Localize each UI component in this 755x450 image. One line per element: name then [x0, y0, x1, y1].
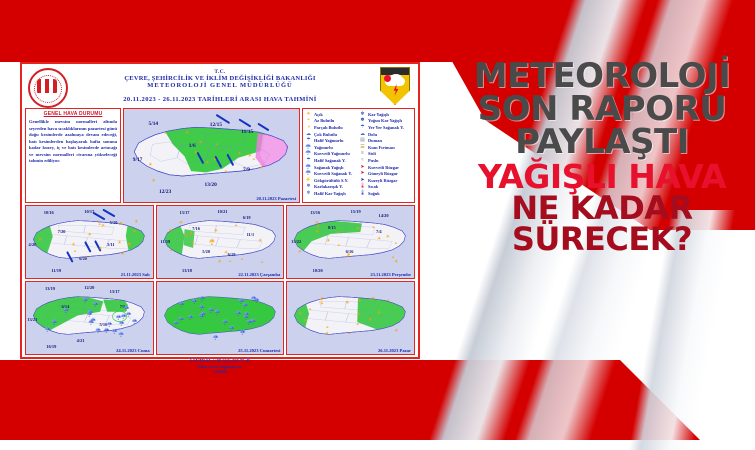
weather-symbol: ☔	[90, 319, 96, 324]
legend-label: Gökgürültülü S.Y.	[314, 178, 348, 183]
forecast-row-1: 10/16 10/17 5/10 7/20 4/20 5/11 6/20 11/…	[25, 205, 415, 279]
weather-symbol: ◓	[326, 326, 329, 331]
forecast-cell-sunday: 26.11.2023 Pazar ☀☀◓☀☀◓☀☀◓☀☀◓☀☀◓☀☀◓	[286, 281, 415, 355]
map-date-label: 20.11.2023 Pazartesi	[256, 196, 296, 201]
temp-label: 13/18	[182, 268, 192, 273]
weather-symbol: ☀	[185, 131, 189, 136]
weather-symbol: ☔	[236, 312, 242, 317]
sleet-icon: ❅	[305, 184, 312, 189]
temp-label: 13/16	[310, 210, 320, 215]
map-date-label: 22.11.2023 Çarşamba	[238, 272, 280, 277]
weather-symbol: ☔	[82, 299, 88, 304]
legend-label: Puslu	[368, 158, 379, 163]
weather-symbol: ☀	[303, 319, 307, 324]
hot-icon: 🌡	[359, 184, 366, 189]
weather-symbol: ☀	[258, 239, 262, 244]
weather-symbol: ☀	[298, 312, 302, 317]
map-date-label: 21.11.2023 Salı	[121, 272, 150, 277]
temp-label: 9/17	[133, 157, 143, 163]
temp-label: 13/22	[291, 239, 301, 244]
weather-symbol: ☀	[119, 222, 123, 227]
legend-label: Kar Yağışlı	[368, 112, 389, 117]
daily-forecast-grid: 10/16 10/17 5/10 7/20 4/20 5/11 6/20 11/…	[22, 203, 418, 355]
weather-symbol: ◓	[241, 258, 244, 263]
temp-label: 1/6	[189, 143, 196, 149]
legend-item: ➤Kuzeyli Rüzgar	[359, 177, 412, 184]
header-line-ministry: ÇEVRE, ŞEHİRCİLİK VE İKLİM DEĞİŞİKLİĞİ B…	[22, 75, 418, 82]
temp-label: 6/19	[228, 252, 236, 257]
weather-forecast-document: T.C. ÇEVRE, ŞEHİRCİLİK VE İKLİM DEĞİŞİKL…	[20, 62, 420, 359]
legend-label: Yağmurlu	[314, 145, 333, 150]
weather-symbol: ☀	[188, 232, 192, 237]
weather-symbol: ☀	[101, 224, 105, 229]
weather-symbol: ☔	[214, 311, 220, 316]
weather-symbol: ☔	[124, 307, 130, 312]
legend-item: ❄Kar Yağışlı	[359, 111, 412, 118]
weather-symbol: ☔	[120, 315, 126, 320]
weather-symbol: ◓	[74, 250, 77, 255]
weather-symbol: ☔	[179, 303, 185, 308]
weather-symbol: ☀	[316, 225, 320, 230]
weather-symbol: ☀	[259, 166, 263, 171]
temp-label: 13/20	[205, 182, 217, 188]
temp-label: 5/20	[202, 249, 210, 254]
weather-symbol: ◓	[348, 332, 351, 337]
map-date-label: 26.11.2023 Pazar	[378, 348, 411, 353]
general-weather-title: GENEL HAVA DURUMU	[29, 111, 117, 117]
weather-symbol: ☔	[119, 322, 125, 327]
weather-symbol: ☔	[95, 329, 101, 334]
headline-line-6: SÜRECEK?	[452, 224, 752, 255]
weather-symbol: ◓	[85, 256, 88, 261]
weather-symbol: ☀	[120, 252, 124, 257]
map-date-label: 23.11.2023 Perşembe	[370, 272, 411, 277]
weather-symbol: ☀	[371, 297, 375, 302]
weather-symbol: ☔	[63, 309, 69, 314]
temp-label: 13/19	[45, 286, 55, 291]
temp-label: 6/19	[243, 215, 251, 220]
legend-item: ☂Hafif Yağmurlu	[305, 137, 358, 144]
forecast-cell-thursday: 13/16 15/19 14/20 8/15 7/4 13/22 6/16 10…	[286, 205, 415, 279]
temp-label: 13/17	[110, 289, 120, 294]
legend-item: ☀Açık	[305, 111, 358, 118]
forecast-cell-saturday: 25.11.2023 Cumartesi ☔☔☔☔☔☔☔☔☔☔☔☔☔☔☔☔☔☔☔…	[156, 281, 285, 355]
partly-cloudy-icon: ◓	[305, 118, 312, 123]
temp-label: 16/19	[46, 344, 56, 349]
legend-item: ◓Az Bulutlu	[305, 118, 358, 125]
legend-label: Parçalı Bulutlu	[314, 125, 343, 130]
legend-label: Yer Yer Sağanak Y.	[368, 125, 404, 130]
legend-label: Hafif Kar Yağışlı	[314, 191, 346, 196]
weather-symbol: ☀	[368, 318, 372, 323]
legend-label: Kum Fırtınası	[368, 145, 395, 150]
weather-symbol: ☀	[148, 163, 152, 168]
weather-symbol: ☀	[386, 235, 390, 240]
legend-column-1: ☀Açık ◓Az Bulutlu ◑Parçalı Bulutlu ☁Çok …	[305, 111, 358, 200]
weather-symbol: ☔	[251, 297, 257, 302]
temp-label: 7/4	[376, 229, 382, 234]
document-body: GENEL HAVA DURUMU Genellikle mevsim norm…	[22, 108, 418, 203]
weather-symbol: ☀	[38, 238, 42, 243]
weather-symbol: ☔	[118, 333, 124, 338]
weather-symbol: ☔	[213, 336, 219, 341]
weather-symbol: ☔	[107, 323, 113, 328]
weather-symbol: ☔	[104, 329, 110, 334]
temp-label: 13/17	[179, 210, 189, 215]
weather-symbol: ☀	[151, 179, 155, 184]
headline-block: METEOROLOJİ SON RAPORU PAYLAŞTI YAĞIŞLI …	[452, 60, 752, 360]
legend-item: ≈Puslu	[359, 157, 412, 164]
header-line-directorate: METEOROLOJİ GENEL MÜDÜRLÜĞÜ	[22, 82, 418, 89]
weather-symbol: ◓	[169, 249, 172, 254]
northerly-wind-icon: ➤	[359, 178, 366, 183]
weather-symbol: ☀	[357, 313, 361, 318]
light-rain-icon: ☂	[305, 138, 312, 143]
forecast-cell-friday: 13/19 12/20 13/17 6/14 7/5 13/21 5/16 4/…	[25, 281, 154, 355]
header-line-date-range: 20.11.2023 - 26.11.2023 TARİHLERİ ARASI …	[22, 89, 418, 103]
legend-item: 🌡Sıcak	[359, 184, 412, 191]
legend-label: Karlakarışık Y.	[314, 184, 343, 189]
weather-symbol: ◓	[337, 231, 340, 236]
weather-symbol: ☀	[394, 329, 398, 334]
heavy-snow-icon: ❅	[359, 118, 366, 123]
header-line-tc: T.C.	[22, 64, 418, 75]
legend-label: Sıcak	[368, 184, 378, 189]
legend-item: ☁Dolu	[359, 131, 412, 138]
legend-item: ☔Sağanak Yağışlı	[305, 164, 358, 171]
shower-icon: ☔	[305, 165, 312, 170]
weather-symbol: ☀	[357, 299, 361, 304]
weather-symbol: ☔	[199, 297, 205, 302]
temp-label: 4/21	[77, 338, 85, 343]
temp-label: 10/20	[313, 268, 323, 273]
legend-item: ❄Hafif Kar Yağışlı	[305, 190, 358, 197]
map-date-label: 25.11.2023 Cumartesi	[238, 348, 280, 353]
temp-label: 12/23	[159, 189, 171, 195]
temp-label: 11/1	[247, 232, 255, 237]
main-forecast-map: 5/14 12/15 11/15 1/6 9/17 7/9 13/20 12/2…	[123, 108, 300, 203]
mgm-shield-logo-icon	[380, 67, 410, 105]
weather-symbol: ☔	[187, 316, 193, 321]
weather-symbol: ☀	[315, 221, 319, 226]
cold-icon: 🌡	[359, 191, 366, 196]
weather-symbol: ◓	[229, 260, 232, 265]
legend-item: ☔Kuvvetli Sağanak Y.	[305, 170, 358, 177]
legend-item: ☰Kum Fırtınası	[359, 144, 412, 151]
weather-symbol: ☔	[192, 300, 198, 305]
weather-symbol: ☀	[346, 255, 350, 260]
weather-symbol: ◓	[372, 226, 375, 231]
scattered-cloud-icon: ◑	[305, 125, 312, 130]
general-weather-panel: GENEL HAVA DURUMU Genellikle mevsim norm…	[25, 108, 121, 203]
weather-symbol: ☔	[200, 313, 206, 318]
hail-icon: ☁	[359, 132, 366, 137]
headline-line-2: SON RAPORU	[452, 93, 752, 126]
legend-item: ▤Duman	[359, 137, 412, 144]
weather-symbol: ◓	[356, 323, 359, 328]
weather-symbol: ☔	[238, 300, 244, 305]
weather-symbol: ☔	[45, 328, 51, 333]
weather-symbol: ☔	[222, 321, 228, 326]
temp-label: 7/16	[192, 226, 200, 231]
legend-item: ☂Yer Yer Sağanak Y.	[359, 124, 412, 131]
legend-label: Kuvvetli Rüzgar	[368, 165, 399, 170]
weather-symbol: ☀	[326, 239, 330, 244]
weather-symbol: ☀	[315, 230, 319, 235]
map-date-label: 24.11.2023 Cuma	[116, 348, 150, 353]
light-snow-icon: ❄	[305, 191, 312, 196]
temp-label: 15/19	[351, 209, 361, 214]
legend-label: Soğuk	[368, 191, 380, 196]
weather-symbol: ☀	[184, 234, 188, 239]
weather-symbol: ☀	[98, 247, 102, 252]
legend-item: ☔Kuvvetli Yağmurlu	[305, 151, 358, 158]
strong-wind-icon: ➤	[359, 165, 366, 170]
legend-label: Kuvvetli Yağmurlu	[314, 151, 350, 156]
weather-symbol: ☀	[168, 229, 172, 234]
weather-symbol: ◓	[252, 158, 255, 163]
weather-symbol: ◓	[337, 244, 340, 249]
weather-symbol: ☀	[211, 240, 215, 245]
weather-symbol: ☔	[87, 313, 93, 318]
weather-symbol: ◓	[261, 261, 264, 266]
weather-symbol: ☀	[199, 141, 203, 146]
weather-symbol: ◓	[215, 143, 218, 148]
weather-symbol: ◓	[164, 132, 167, 137]
legend-label: Sisli	[368, 151, 376, 156]
footer-copyright: ©MGM	[22, 369, 418, 374]
general-weather-text: Genellikle mevsim normalleri altında sey…	[29, 119, 117, 165]
weather-symbol: ☀	[345, 301, 349, 306]
fog-icon: ≡	[359, 151, 366, 156]
temp-label: 14/20	[379, 213, 389, 218]
legend-item: ❅Karlakarışık Y.	[305, 184, 358, 191]
legend-label: Hafif Sağanak Y.	[314, 158, 346, 163]
temp-label: 10/16	[44, 210, 54, 215]
legend-item: ➤Güneyli Rüzgar	[359, 170, 412, 177]
weather-symbol: ◓	[96, 220, 99, 225]
legend-item: ☂Hafif Sağanak Y.	[305, 157, 358, 164]
temp-label: 7/20	[58, 229, 66, 234]
thunderstorm-icon: ⚡	[305, 178, 312, 183]
temp-label: 7/9	[243, 167, 250, 173]
legend-item: ≡Sisli	[359, 151, 412, 158]
forecast-cell-tuesday: 10/16 10/17 5/10 7/20 4/20 5/11 6/20 11/…	[25, 205, 154, 279]
forecast-row-2: 13/19 12/20 13/17 6/14 7/5 13/21 5/16 4/…	[25, 281, 415, 355]
ministry-emblem-icon	[28, 68, 68, 108]
weather-symbol: ☀	[179, 221, 183, 226]
haze-icon: ≈	[359, 158, 366, 163]
weather-symbol: ☀	[212, 158, 216, 163]
weather-symbol: ☔	[112, 330, 118, 335]
weather-symbol: ◓	[224, 170, 227, 175]
temp-label: 11/19	[51, 268, 61, 273]
weather-symbol: ☔	[244, 313, 250, 318]
weather-symbol: ☀	[205, 161, 209, 166]
weather-symbol: ◓	[387, 299, 390, 304]
legend-label: Dolu	[368, 132, 377, 137]
document-footer: SANTRAL (+90 312) 359 75 45 http://www.m…	[22, 357, 418, 374]
forecast-cell-wednesday: 13/17 10/21 6/19 7/16 11/19 11/1 5/20 6/…	[156, 205, 285, 279]
light-shower-icon: ☂	[305, 158, 312, 163]
cloudy-icon: ☁	[305, 132, 312, 137]
weather-symbol: ☔	[199, 306, 205, 311]
temp-label: 13/21	[27, 317, 37, 322]
weather-symbol: ☀	[325, 332, 329, 337]
weather-symbol: ☔	[132, 320, 138, 325]
weather-symbol: ☔	[250, 320, 256, 325]
southerly-wind-icon: ➤	[359, 171, 366, 176]
weather-symbol: ☔	[51, 321, 57, 326]
heavy-shower-icon: ☔	[305, 171, 312, 176]
legend-item: ➤Kuvvetli Rüzgar	[359, 164, 412, 171]
weather-symbol: ☔	[229, 327, 235, 332]
weather-symbol: ☀	[298, 250, 302, 255]
weather-symbol: ☀	[71, 243, 75, 248]
legend-label: Duman	[368, 138, 382, 143]
weather-symbol: ☀	[377, 311, 381, 316]
weather-symbol: ☔	[240, 331, 246, 336]
legend-column-2: ❄Kar Yağışlı ❅Yoğun Kar Yağışlı ☂Yer Yer…	[359, 111, 412, 200]
isolated-shower-icon: ☂	[359, 125, 366, 130]
temp-label: 12/20	[84, 285, 94, 290]
weather-symbol: ☀	[394, 260, 398, 265]
weather-symbol: ☀	[191, 242, 195, 247]
weather-symbol: ☀	[117, 241, 121, 246]
legend-label: Kuzeyli Rüzgar	[368, 178, 397, 183]
temp-label: 5/10	[110, 220, 118, 225]
weather-symbol: ☀	[134, 220, 138, 225]
temp-label: 4/20	[29, 242, 37, 247]
weather-symbol: ☔	[173, 322, 179, 327]
legend-item: ❅Yoğun Kar Yağışlı	[359, 118, 412, 125]
weather-symbol: ☀	[237, 152, 241, 157]
weather-symbol: ☀	[127, 243, 131, 248]
legend-label: Açık	[314, 112, 323, 117]
temp-label: 10/21	[217, 209, 227, 214]
weather-symbol: ☀	[214, 229, 218, 234]
temp-label: 5/11	[107, 242, 115, 247]
weather-symbol: ☀	[224, 251, 228, 256]
legend-label: Kuvvetli Sağanak Y.	[314, 171, 352, 176]
weather-symbol: ☀	[356, 227, 360, 232]
weather-symbol: ☀	[88, 233, 92, 238]
legend-label: Çok Bulutlu	[314, 132, 337, 137]
weather-symbol: ☔	[92, 303, 98, 308]
snow-icon: ❄	[359, 112, 366, 117]
temp-label: 11/15	[241, 129, 253, 135]
weather-symbol: ☀	[194, 151, 198, 156]
weather-legend-panel: ☀Açık ◓Az Bulutlu ◑Parçalı Bulutlu ☁Çok …	[302, 108, 415, 203]
legend-item: 🌡Soğuk	[359, 190, 412, 197]
document-header: T.C. ÇEVRE, ŞEHİRCİLİK VE İKLİM DEĞİŞİKL…	[22, 64, 418, 108]
legend-label: Sağanak Yağışlı	[314, 165, 343, 170]
temp-label: 11/19	[160, 239, 170, 244]
weather-symbol: ◓	[309, 308, 312, 313]
legend-label: Yoğun Kar Yağışlı	[368, 118, 402, 123]
sunny-icon: ☀	[305, 112, 312, 117]
temp-label: 12/15	[210, 122, 222, 128]
legend-item: ☁Çok Bulutlu	[305, 131, 358, 138]
heavy-rain-icon: ☔	[305, 151, 312, 156]
legend-item: ◑Parçalı Bulutlu	[305, 124, 358, 131]
weather-symbol: ☀	[132, 230, 136, 235]
weather-symbol: ◓	[394, 242, 397, 247]
sandstorm-icon: ☰	[359, 145, 366, 150]
temp-label: 8/15	[328, 225, 336, 230]
headline-line-3: PAYLAŞTI	[452, 126, 752, 159]
weather-symbol: ◓	[235, 224, 238, 229]
weather-symbol: ☀	[377, 237, 381, 242]
legend-label: Az Bulutlu	[314, 118, 334, 123]
weather-symbol: ☀	[320, 302, 324, 307]
legend-label: Hafif Yağmurlu	[314, 138, 343, 143]
legend-item: ⚡Gökgürültülü S.Y.	[305, 177, 358, 184]
legend-item: ☔Yağmurlu	[305, 144, 358, 151]
temp-label: 5/14	[149, 121, 159, 127]
weather-symbol: ☀	[217, 260, 221, 265]
legend-label: Güneyli Rüzgar	[368, 171, 398, 176]
smoke-icon: ▤	[359, 138, 366, 143]
